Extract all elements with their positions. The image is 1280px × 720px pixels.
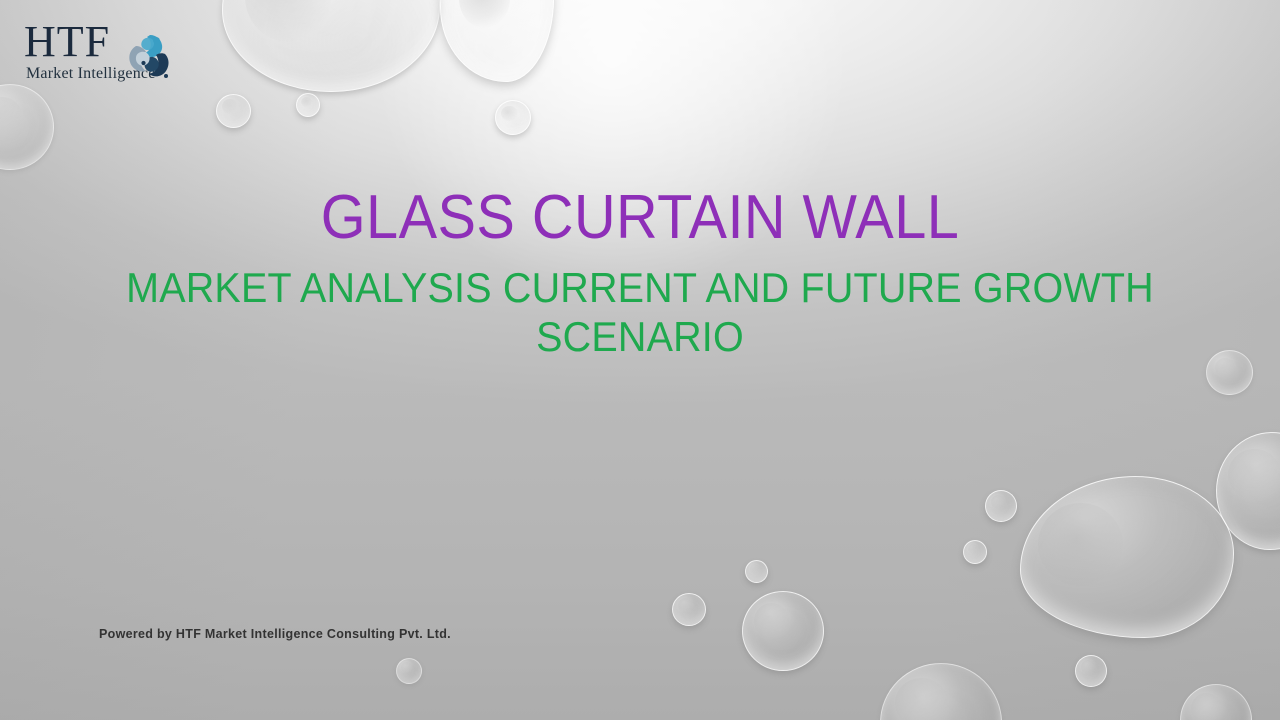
bubble-droplet-a [216,94,251,128]
bubble-highlight [895,678,948,720]
bubble-droplet-g [672,593,706,626]
bubble-highlight [1038,503,1123,586]
bubble-droplet-c [495,100,531,135]
bubble-droplet-d [985,490,1017,522]
bubble-droplet-h [745,560,768,583]
bubble-top-large-circle [222,0,440,92]
bubble-droplet-i [396,658,422,684]
bubble-bottom-center [742,591,824,671]
logo-wordmark: HTF [24,20,110,64]
bubble-droplet-e [963,540,987,564]
bubble-highlight [754,603,789,639]
page-subtitle: Market Analysis Current and Future Growt… [123,264,1157,361]
bubble-bottom-far-right [1180,684,1252,720]
bubble-highlight [301,97,312,108]
bubble-highlight [459,0,511,28]
title-slide: HTF Market Intelligence [0,0,1280,720]
bubble-right-large-partial [1216,432,1280,550]
bubble-highlight [501,106,517,121]
bubble-highlight [968,544,978,554]
bubble-right-small [1206,350,1253,395]
bubble-droplet-b [296,93,320,117]
page-title: Glass Curtain Wall [129,186,1152,250]
bubble-highlight [222,99,238,114]
bubble-bottom-right-partial [880,663,1002,720]
bubble-highlight [245,0,331,42]
bubble-highlight [1191,693,1222,720]
bubble-highlight [991,495,1005,509]
bubble-top-left-edge [0,84,54,170]
bubble-big-blob [1020,476,1234,638]
bubble-highlight [1215,358,1235,377]
bubble-highlight [0,97,22,136]
htf-logo[interactable]: HTF Market Intelligence [20,24,180,86]
bubble-droplet-f [1075,655,1107,687]
headline-block: Glass Curtain Wall Market Analysis Curre… [90,186,1190,362]
bubble-highlight [1228,449,1280,500]
bubble-top-right-blob [440,0,554,82]
three-people-swirl-icon [120,32,178,84]
bubble-highlight [1081,660,1095,674]
bubble-highlight [401,662,412,673]
bubble-highlight [678,598,693,613]
footer-credit: Powered by HTF Market Intelligence Consu… [99,627,451,641]
bubble-highlight [750,564,760,574]
